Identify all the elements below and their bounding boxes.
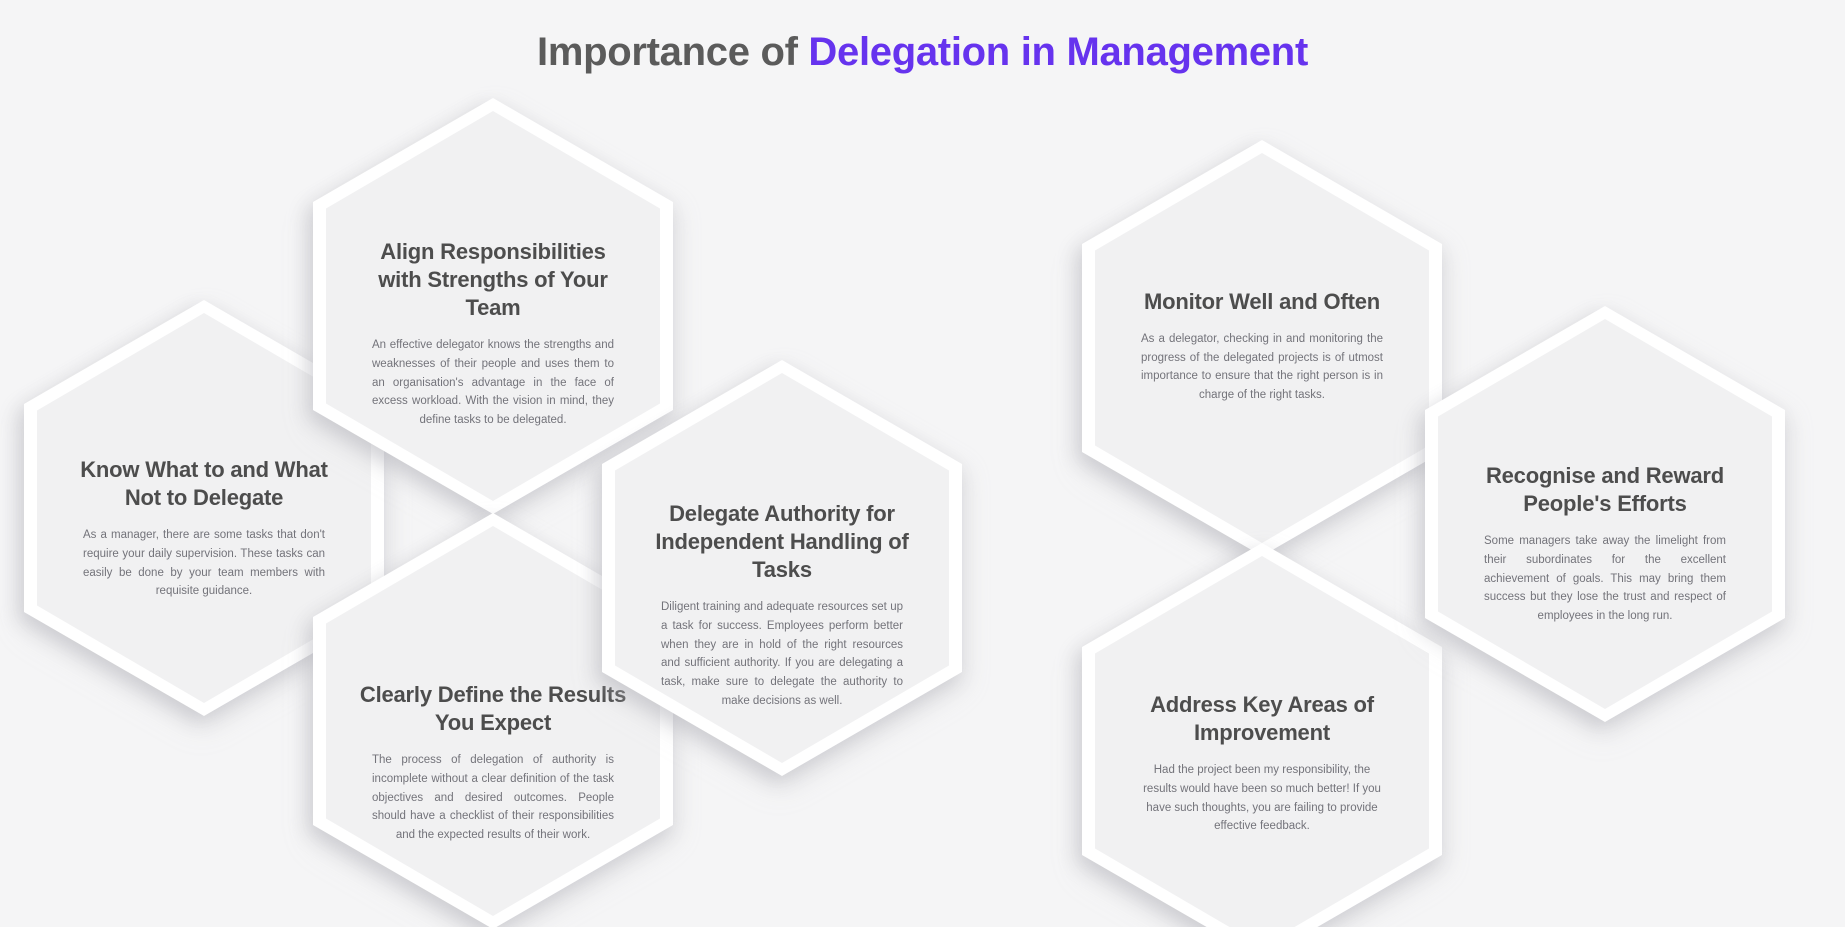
hexagon-diagram: Know What to and What Not to Delegate As… [0,0,1845,927]
hex-heading: Know What to and What Not to Delegate [68,456,340,512]
hex-heading: Recognise and Reward People's Efforts [1469,462,1741,518]
hex-heading: Monitor Well and Often [1126,288,1398,316]
hex-card-address-key-areas[interactable]: Address Key Areas of Improvement Had the… [1082,543,1442,927]
hex-body: Some managers take away the limelight fr… [1484,532,1726,625]
hex-body: As a manager, there are some tasks that … [83,526,325,601]
hex-body: The process of delegation of authority i… [372,751,614,844]
hex-heading: Delegate Authority for Independent Handl… [646,500,918,584]
hex-body: Had the project been my responsibility, … [1141,761,1383,836]
hex-card-monitor-well-and-often[interactable]: Monitor Well and Often As a delegator, c… [1082,140,1442,556]
hex-heading: Address Key Areas of Improvement [1126,691,1398,747]
hex-heading: Clearly Define the Results You Expect [357,681,629,737]
hex-card-delegate-authority[interactable]: Delegate Authority for Independent Handl… [602,360,962,776]
hex-card-recognise-and-reward[interactable]: Recognise and Reward People's Efforts So… [1425,306,1785,722]
hex-body: As a delegator, checking in and monitori… [1141,330,1383,405]
hex-heading: Align Responsibilities with Strengths of… [357,238,629,322]
hex-body: An effective delegator knows the strengt… [372,336,614,429]
hex-body: Diligent training and adequate resources… [661,598,903,710]
